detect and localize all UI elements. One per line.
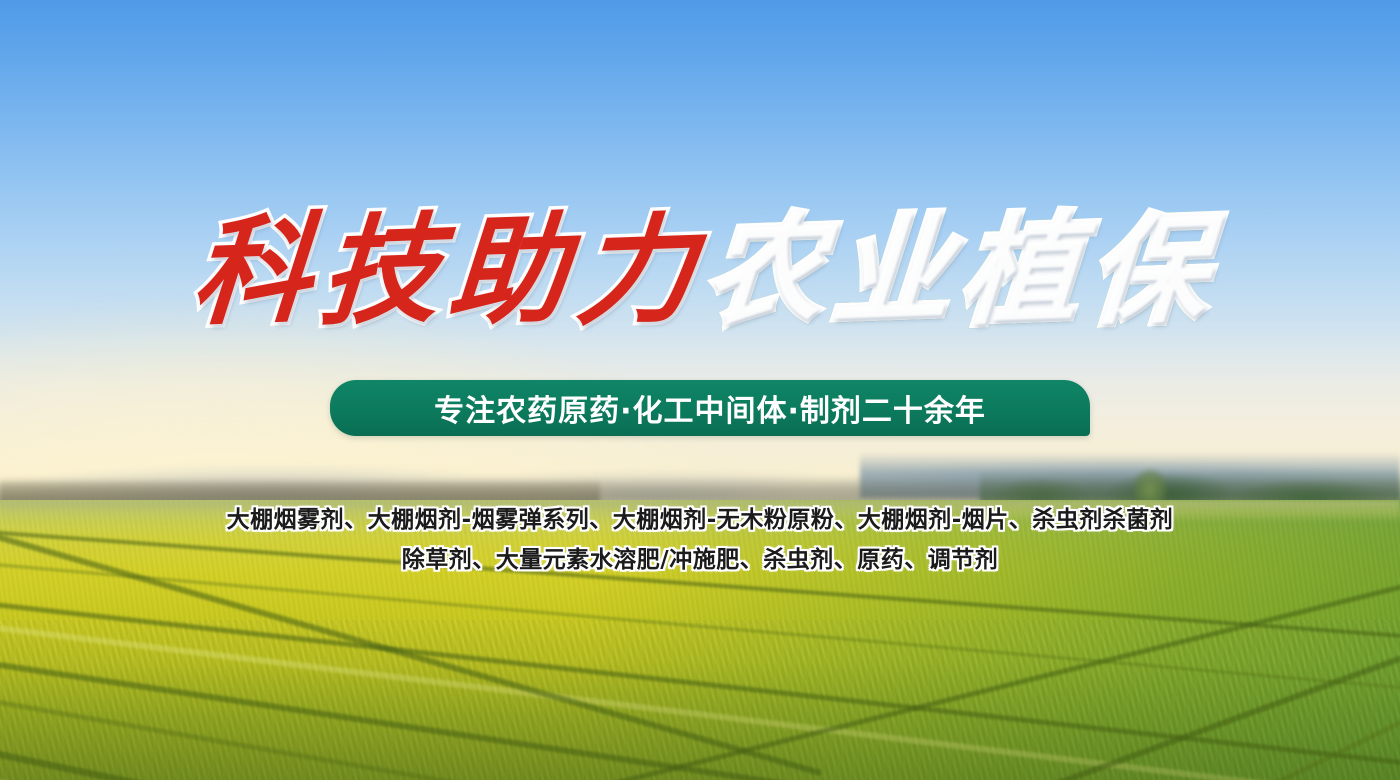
headline-char-2: 技	[317, 210, 444, 332]
product-line-2: 除草剂、大量元素水溶肥/冲施肥、杀虫剂、原药、调节剂	[0, 540, 1400, 580]
field-bottom-shadow	[0, 660, 1400, 780]
promo-banner: 科技助力农业植保 专注农药原药·化工中间体·制剂二十余年 大棚烟雾剂、大棚烟剂-…	[0, 0, 1400, 780]
headline-char-5: 农	[701, 210, 828, 332]
headline-char-4: 力	[573, 210, 700, 332]
subtitle-text: 专注农药原药·化工中间体·制剂二十余年	[434, 386, 986, 430]
product-list: 大棚烟雾剂、大棚烟剂-烟雾弹系列、大棚烟剂-无木粉原粉、大棚烟剂-烟片、杀虫剂杀…	[0, 500, 1400, 580]
subtitle-pill: 专注农药原药·化工中间体·制剂二十余年	[330, 380, 1090, 436]
product-line-1: 大棚烟雾剂、大棚烟剂-烟雾弹系列、大棚烟剂-无木粉原粉、大棚烟剂-烟片、杀虫剂杀…	[0, 500, 1400, 540]
headline: 科技助力农业植保	[0, 212, 1400, 330]
headline-char-1: 科	[189, 210, 316, 332]
headline-char-8: 保	[1085, 210, 1212, 332]
headline-char-3: 助	[445, 210, 572, 332]
headline-char-6: 业	[829, 210, 956, 332]
headline-char-7: 植	[957, 210, 1084, 332]
